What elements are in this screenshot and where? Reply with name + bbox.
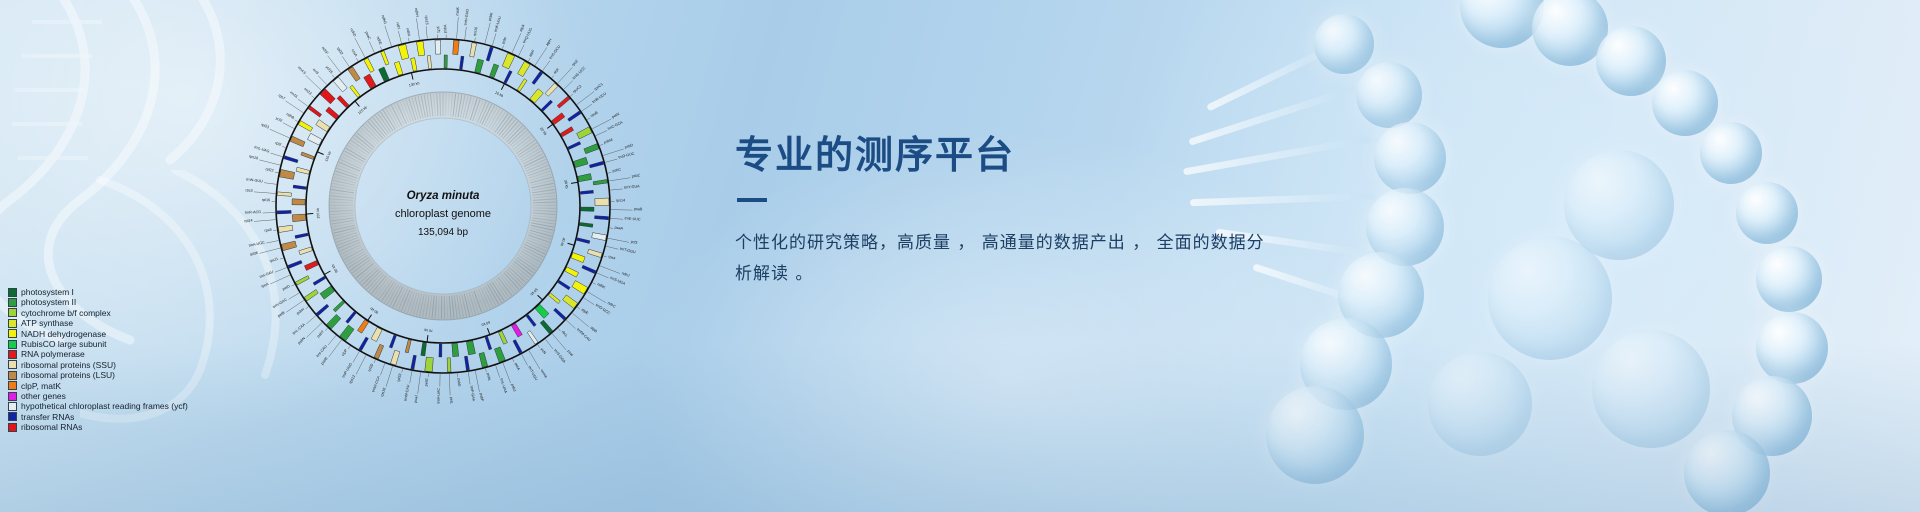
gene-block bbox=[530, 89, 543, 103]
gene-label: psbI bbox=[501, 37, 507, 45]
gene-block bbox=[316, 120, 330, 132]
gene-leader-line bbox=[611, 218, 623, 219]
gene-label: trnS-GCU bbox=[548, 44, 561, 60]
gene-leader-line bbox=[356, 58, 358, 61]
gene-label: ndhD bbox=[349, 28, 357, 38]
gene-leader-line bbox=[285, 101, 303, 113]
kb-tick bbox=[501, 84, 504, 90]
gene-label: psbL bbox=[486, 373, 492, 382]
legend-item: RubisCO large subunit bbox=[8, 339, 188, 349]
gene-leader-line bbox=[608, 238, 629, 242]
gene-label: rpoC1 bbox=[593, 82, 603, 91]
gene-block bbox=[552, 113, 565, 125]
gene-label: trnQ-UUG bbox=[522, 27, 533, 44]
gene-label: rps18 bbox=[380, 387, 387, 397]
gene-block bbox=[475, 59, 484, 73]
gene-label: trnH-GUG bbox=[464, 9, 470, 26]
legend-item-label: ribosomal RNAs bbox=[21, 422, 82, 432]
gene-leader-line bbox=[449, 374, 450, 395]
legend-swatch bbox=[8, 381, 17, 390]
gene-leader-line bbox=[348, 346, 350, 349]
gene-leader-line bbox=[608, 172, 611, 173]
gene-label: rpl23 bbox=[260, 123, 269, 130]
gene-leader-line bbox=[418, 372, 421, 393]
gene-label: ycf1 bbox=[436, 26, 440, 33]
kb-tick bbox=[538, 295, 543, 300]
gene-block bbox=[333, 77, 347, 92]
gene-block bbox=[346, 312, 356, 324]
gene-label: rpoA bbox=[261, 282, 270, 289]
gene-label: atpF bbox=[528, 48, 536, 57]
genome-legend: photosystem Iphotosystem IIcytochrome b/… bbox=[8, 287, 188, 432]
gene-label: petN bbox=[611, 112, 620, 119]
legend-swatch bbox=[8, 402, 17, 411]
legend-item-label: RNA polymerase bbox=[21, 349, 85, 359]
gene-label: rrn4.5 bbox=[297, 66, 307, 76]
gene-label: matK bbox=[455, 6, 460, 15]
gene-label: rps11 bbox=[269, 257, 279, 264]
gene-label: psbN bbox=[297, 336, 306, 345]
gene-label: trnE-UUC bbox=[624, 216, 641, 221]
gene-leader-line bbox=[535, 47, 547, 65]
gene-block bbox=[581, 207, 594, 211]
legend-swatch bbox=[8, 319, 17, 328]
gene-label: psaA bbox=[614, 226, 623, 231]
gene-label: rps15 bbox=[424, 15, 429, 25]
gene-label: psaB bbox=[634, 207, 643, 211]
gene-leader-line bbox=[465, 27, 467, 39]
gene-block bbox=[327, 314, 341, 329]
kb-tick-label: 70 kb bbox=[424, 328, 433, 333]
gene-leader-line bbox=[609, 178, 630, 181]
gene-label: cemA bbox=[540, 369, 549, 380]
legend-item: ribosomal proteins (LSU) bbox=[8, 370, 188, 380]
gene-leader-line bbox=[270, 275, 290, 284]
legend-item-label: ribosomal proteins (SSU) bbox=[21, 360, 116, 370]
genome-circle-svg: psbAmatKtrnH-GUGrps16psbKtrnK-UUUpsbIatp… bbox=[243, 6, 643, 406]
gene-label: rrn5 bbox=[312, 68, 319, 76]
gene-block bbox=[568, 142, 581, 150]
gene-label: rpoC2 bbox=[572, 84, 582, 94]
gene-block bbox=[364, 74, 376, 89]
gene-block bbox=[394, 62, 403, 76]
gene-leader-line bbox=[306, 316, 315, 324]
gene-label: trnT-UGU bbox=[527, 365, 538, 381]
gene-label: trnG-UCC bbox=[572, 66, 587, 80]
legend-item-label: RubisCO large subunit bbox=[21, 339, 107, 349]
gene-label: ycf3 bbox=[630, 240, 637, 245]
gene-leader-line bbox=[289, 293, 300, 299]
gene-leader-line bbox=[587, 118, 590, 120]
gene-leader-line bbox=[475, 371, 479, 392]
gene-leader-line bbox=[596, 131, 607, 136]
gene-label: rpl36 bbox=[249, 251, 258, 257]
gene-block bbox=[563, 295, 578, 308]
gene-leader-line bbox=[380, 364, 384, 376]
kb-tick bbox=[368, 315, 372, 321]
gene-leader-line bbox=[587, 292, 605, 303]
gene-label: psbE bbox=[457, 378, 462, 387]
headline-rule bbox=[737, 198, 767, 202]
gene-block bbox=[374, 344, 384, 359]
gene-block bbox=[593, 179, 607, 184]
gene-label: petB bbox=[277, 310, 286, 318]
gene-label: psbF bbox=[479, 393, 485, 403]
gene-block bbox=[307, 133, 322, 145]
kb-tick-label: 20 kb bbox=[539, 127, 547, 136]
gene-block bbox=[587, 249, 602, 257]
gene-block bbox=[288, 260, 302, 268]
gene-block bbox=[304, 290, 318, 301]
gene-block bbox=[298, 121, 312, 132]
gene-block bbox=[444, 55, 447, 68]
legend-item-label: clpP, matK bbox=[21, 381, 61, 391]
gene-label: rps19 bbox=[249, 154, 259, 160]
gene-block bbox=[513, 340, 522, 354]
banner-subcopy: 个性化的研究策略，高质量 ， 高通量的数据产出 ， 全面的数据分析解读 。 bbox=[735, 228, 1265, 290]
gene-block bbox=[580, 190, 593, 194]
gene-block bbox=[486, 47, 493, 61]
gene-block bbox=[425, 357, 434, 372]
gene-leader-line bbox=[260, 248, 281, 253]
gene-leader-line bbox=[475, 38, 476, 41]
gene-leader-line bbox=[280, 258, 283, 259]
gene-leader-line bbox=[593, 283, 596, 285]
kb-tick-label: 80 kb bbox=[370, 306, 380, 314]
gene-block bbox=[299, 247, 313, 255]
gene-block bbox=[304, 261, 318, 271]
kb-tick-label: 100 kb bbox=[316, 208, 321, 219]
gene-block bbox=[504, 70, 512, 83]
gene-block bbox=[350, 85, 360, 97]
legend-swatch bbox=[8, 298, 17, 307]
gene-leader-line bbox=[584, 298, 594, 305]
gene-leader-line bbox=[374, 360, 375, 363]
gene-block bbox=[565, 267, 579, 277]
kb-tick bbox=[411, 73, 413, 80]
gene-leader-line bbox=[522, 354, 528, 365]
genome-length: 135,094 bp bbox=[418, 227, 468, 238]
gene-block bbox=[301, 152, 314, 159]
gene-leader-line bbox=[519, 45, 525, 56]
kb-tick bbox=[547, 124, 553, 128]
gene-leader-line bbox=[380, 46, 381, 49]
gene-leader-line bbox=[254, 192, 275, 194]
legend-item-label: NADH dehydrogenase bbox=[21, 329, 106, 339]
gene-label: rpl20 bbox=[367, 363, 374, 372]
gene-block bbox=[348, 67, 360, 82]
gene-label: trnV-GAC bbox=[272, 297, 288, 309]
legend-item: cytochrome b/f complex bbox=[8, 308, 188, 318]
gene-label: rps7 bbox=[278, 93, 286, 100]
gene-leader-line bbox=[582, 104, 592, 111]
kb-tick bbox=[568, 243, 575, 245]
gene-leader-line bbox=[577, 307, 580, 309]
legend-swatch bbox=[8, 412, 17, 421]
gene-block bbox=[421, 343, 427, 356]
legend-swatch bbox=[8, 308, 17, 317]
gene-block bbox=[416, 41, 424, 56]
kb-tick bbox=[487, 328, 489, 335]
gene-label: atpI bbox=[553, 68, 560, 75]
gene-leader-line bbox=[513, 359, 514, 362]
kb-tick-label: 50 kb bbox=[529, 287, 538, 296]
gene-leader-line bbox=[502, 46, 503, 49]
gene-label: petG bbox=[424, 378, 429, 386]
gene-leader-line bbox=[485, 22, 490, 43]
kb-tick bbox=[317, 152, 323, 155]
gene-label: ndhA bbox=[405, 27, 411, 37]
legend-item: hypothetical chloroplast reading frames … bbox=[8, 401, 188, 411]
gene-label: trnV-UAC bbox=[437, 388, 441, 404]
gene-label: rbcL bbox=[561, 330, 569, 338]
gene-label: psaJ bbox=[414, 395, 419, 403]
gene-leader-line bbox=[275, 268, 287, 273]
gene-label: atpH bbox=[545, 38, 553, 47]
genome-backbone-outer bbox=[276, 39, 610, 373]
gene-label: rpoB bbox=[590, 110, 599, 118]
gene-leader-line bbox=[291, 285, 294, 287]
legend-item-label: other genes bbox=[21, 391, 66, 401]
gene-block bbox=[284, 156, 298, 163]
kb-tick bbox=[427, 335, 428, 342]
gene-leader-line bbox=[259, 160, 280, 165]
gene-label: clpP bbox=[341, 348, 349, 357]
gene-labels: psbAmatKtrnH-GUGrps16psbKtrnK-UUUpsbIatp… bbox=[244, 6, 643, 404]
kb-tick-label: 30 kb bbox=[563, 180, 568, 189]
gene-leader-line bbox=[408, 38, 409, 41]
kb-tick bbox=[571, 182, 578, 183]
gene-leader-line bbox=[270, 129, 290, 138]
gene-leader-line bbox=[605, 159, 617, 162]
gene-leader-line bbox=[398, 31, 401, 43]
gene-block bbox=[359, 337, 369, 351]
gene-leader-line bbox=[457, 17, 459, 38]
gene-leader-line bbox=[528, 58, 530, 61]
gene-label: atpB bbox=[589, 326, 598, 334]
gene-label: rpl32 bbox=[336, 47, 344, 56]
gene-leader-line bbox=[353, 352, 359, 363]
gene-label: trnC-GCA bbox=[607, 120, 624, 131]
gene-block bbox=[582, 265, 596, 273]
gene-block bbox=[571, 253, 585, 263]
gene-label: trnR-ACG bbox=[245, 210, 261, 215]
gene-block bbox=[439, 344, 442, 357]
gene-label: psbD bbox=[624, 143, 634, 150]
gene-label: atpA bbox=[519, 23, 526, 32]
gene-label: psbA bbox=[443, 24, 447, 33]
legend-item-label: ATP synthase bbox=[21, 318, 73, 328]
legend-item-label: photosystem II bbox=[21, 297, 76, 307]
gene-block bbox=[308, 106, 321, 117]
gene-label: trnN-GUU bbox=[246, 177, 263, 183]
kb-tick-label: 120 kb bbox=[357, 105, 368, 115]
legend-item: photosystem II bbox=[8, 297, 188, 307]
gene-label: trnL-UAA bbox=[499, 378, 508, 394]
gene-feature-blocks bbox=[277, 40, 609, 372]
gene-block bbox=[595, 198, 609, 206]
gene-leader-line bbox=[270, 153, 282, 157]
gene-block bbox=[296, 167, 310, 174]
gene-leader-line bbox=[356, 355, 366, 374]
gene-label: psbZ bbox=[631, 173, 640, 178]
gene-label: trnD-GUC bbox=[618, 151, 635, 159]
gene-label: psbB bbox=[320, 356, 329, 366]
gene-label: trnW-CCA bbox=[371, 375, 381, 393]
gene-block bbox=[580, 223, 593, 228]
gene-block bbox=[548, 293, 560, 304]
gene-label: ndhG bbox=[381, 15, 388, 25]
legend-item: photosystem I bbox=[8, 287, 188, 297]
gene-block bbox=[277, 192, 291, 196]
gene-block bbox=[278, 225, 293, 232]
kb-tick-label: 10 kb bbox=[494, 91, 504, 99]
legend-swatch bbox=[8, 392, 17, 401]
gene-label: psaC bbox=[364, 31, 371, 41]
gene-block bbox=[479, 352, 488, 367]
gene-label: trnF-GAA bbox=[469, 385, 475, 402]
gene-block bbox=[411, 355, 417, 369]
organism-name: Oryza minuta bbox=[407, 190, 480, 202]
gene-leader-line bbox=[283, 123, 294, 129]
gene-block bbox=[498, 331, 507, 344]
gene-label: rps16 bbox=[473, 26, 479, 36]
gene-label: trnI-CAU bbox=[316, 344, 328, 358]
gene-block bbox=[464, 356, 469, 370]
gene-label: rps12 bbox=[348, 374, 356, 384]
gene-leader-line bbox=[342, 56, 349, 66]
legend-swatch bbox=[8, 423, 17, 432]
gene-block bbox=[357, 320, 368, 334]
gene-block bbox=[502, 53, 514, 69]
gene-block bbox=[277, 210, 291, 214]
legend-item: ATP synthase bbox=[8, 318, 188, 328]
gene-leader-line bbox=[332, 75, 334, 78]
gene-block bbox=[584, 144, 599, 154]
gene-label: psaI bbox=[566, 349, 574, 357]
gene-label: rpl22 bbox=[265, 167, 274, 173]
gene-leader-line bbox=[385, 26, 392, 46]
gene-block bbox=[295, 276, 309, 286]
gene-label: trnY-GUA bbox=[624, 184, 640, 190]
gene-leader-line bbox=[264, 183, 276, 185]
gene-leader-line bbox=[273, 230, 276, 231]
gene-leader-line bbox=[538, 345, 540, 348]
gene-leader-line bbox=[486, 369, 487, 372]
gene-block bbox=[316, 304, 329, 315]
gene-block bbox=[290, 136, 305, 147]
gene-block bbox=[333, 301, 344, 312]
gene-leader-line bbox=[328, 336, 336, 346]
gene-label: ndhH bbox=[414, 8, 419, 18]
gene-block bbox=[485, 337, 492, 350]
gene-block bbox=[589, 161, 603, 168]
kb-tick-label: 110 kb bbox=[324, 151, 332, 162]
legend-item: other genes bbox=[8, 391, 188, 401]
gene-block bbox=[452, 343, 459, 356]
gene-leader-line bbox=[577, 92, 594, 105]
gene-block bbox=[518, 61, 531, 76]
gene-block bbox=[292, 214, 305, 222]
gene-block bbox=[517, 79, 527, 92]
legend-swatch bbox=[8, 371, 17, 380]
gene-label: ndhF bbox=[321, 46, 330, 56]
gene-leader-line bbox=[325, 328, 327, 331]
gene-block bbox=[490, 64, 499, 78]
gene-label: atpE bbox=[581, 308, 590, 316]
gene-label: rpl33 bbox=[397, 373, 403, 382]
gene-leader-line bbox=[282, 146, 285, 147]
gene-label: trnfM-CAU bbox=[576, 327, 592, 342]
legend-item: RNA polymerase bbox=[8, 349, 188, 359]
gene-label: ycf4 bbox=[540, 347, 547, 355]
gene-leader-line bbox=[298, 99, 308, 106]
gene-block bbox=[470, 43, 477, 58]
gene-block bbox=[558, 280, 570, 289]
gene-label: ycf15 bbox=[325, 65, 334, 74]
gene-block bbox=[337, 96, 349, 108]
gene-block bbox=[541, 100, 552, 111]
gene-block bbox=[320, 286, 334, 299]
gene-block bbox=[568, 111, 581, 121]
gene-leader-line bbox=[318, 76, 327, 85]
gene-label: rrn23 bbox=[303, 87, 312, 96]
gene-leader-line bbox=[254, 220, 275, 222]
gene-leader-line bbox=[603, 256, 606, 257]
kb-tick bbox=[324, 271, 330, 275]
gene-label: petL bbox=[449, 397, 453, 404]
kb-tick bbox=[355, 101, 359, 106]
gene-block bbox=[313, 276, 326, 285]
gene-block bbox=[292, 199, 305, 205]
gene-block bbox=[578, 174, 592, 182]
gene-label: trnS-UGA bbox=[610, 276, 627, 286]
gene-block bbox=[390, 350, 399, 365]
gene-block bbox=[466, 341, 475, 355]
legend-item-label: photosystem I bbox=[21, 287, 74, 297]
gene-leader-line bbox=[386, 366, 392, 387]
gene-label: rrn16 bbox=[289, 90, 298, 98]
gene-label: ndhI bbox=[395, 22, 401, 30]
legend-swatch bbox=[8, 350, 17, 359]
gene-label: psbM bbox=[603, 138, 613, 145]
gene-label: rpl16 bbox=[262, 198, 270, 202]
gene-block bbox=[398, 44, 409, 59]
gene-block bbox=[560, 127, 573, 137]
gene-block bbox=[545, 83, 558, 96]
legend-item-label: hypothetical chloroplast reading frames … bbox=[21, 401, 188, 411]
legend-item: transfer RNAs bbox=[8, 412, 188, 422]
legend-item-label: ribosomal proteins (LSU) bbox=[21, 370, 115, 380]
gene-label: rps3 bbox=[245, 188, 252, 193]
gene-leader-line bbox=[468, 372, 470, 384]
gene-block bbox=[364, 58, 374, 72]
gene-label: psbT bbox=[316, 329, 325, 338]
kb-tick-label: 130 kb bbox=[408, 81, 419, 87]
gene-leader-line bbox=[558, 328, 560, 331]
gene-label: trnK-UUU bbox=[494, 16, 503, 33]
gene-label: petA bbox=[514, 362, 521, 371]
gene-leader-line bbox=[600, 144, 603, 145]
gene-label: ycf2 bbox=[275, 116, 283, 123]
gene-label: ndhB bbox=[285, 112, 295, 120]
gene-leader-line bbox=[545, 339, 553, 349]
gene-leader-line bbox=[566, 320, 575, 328]
gene-block bbox=[577, 127, 592, 139]
gene-block bbox=[371, 327, 382, 341]
gene-label: rpl14 bbox=[244, 219, 253, 224]
gene-label: trnS-GGA bbox=[553, 348, 566, 364]
